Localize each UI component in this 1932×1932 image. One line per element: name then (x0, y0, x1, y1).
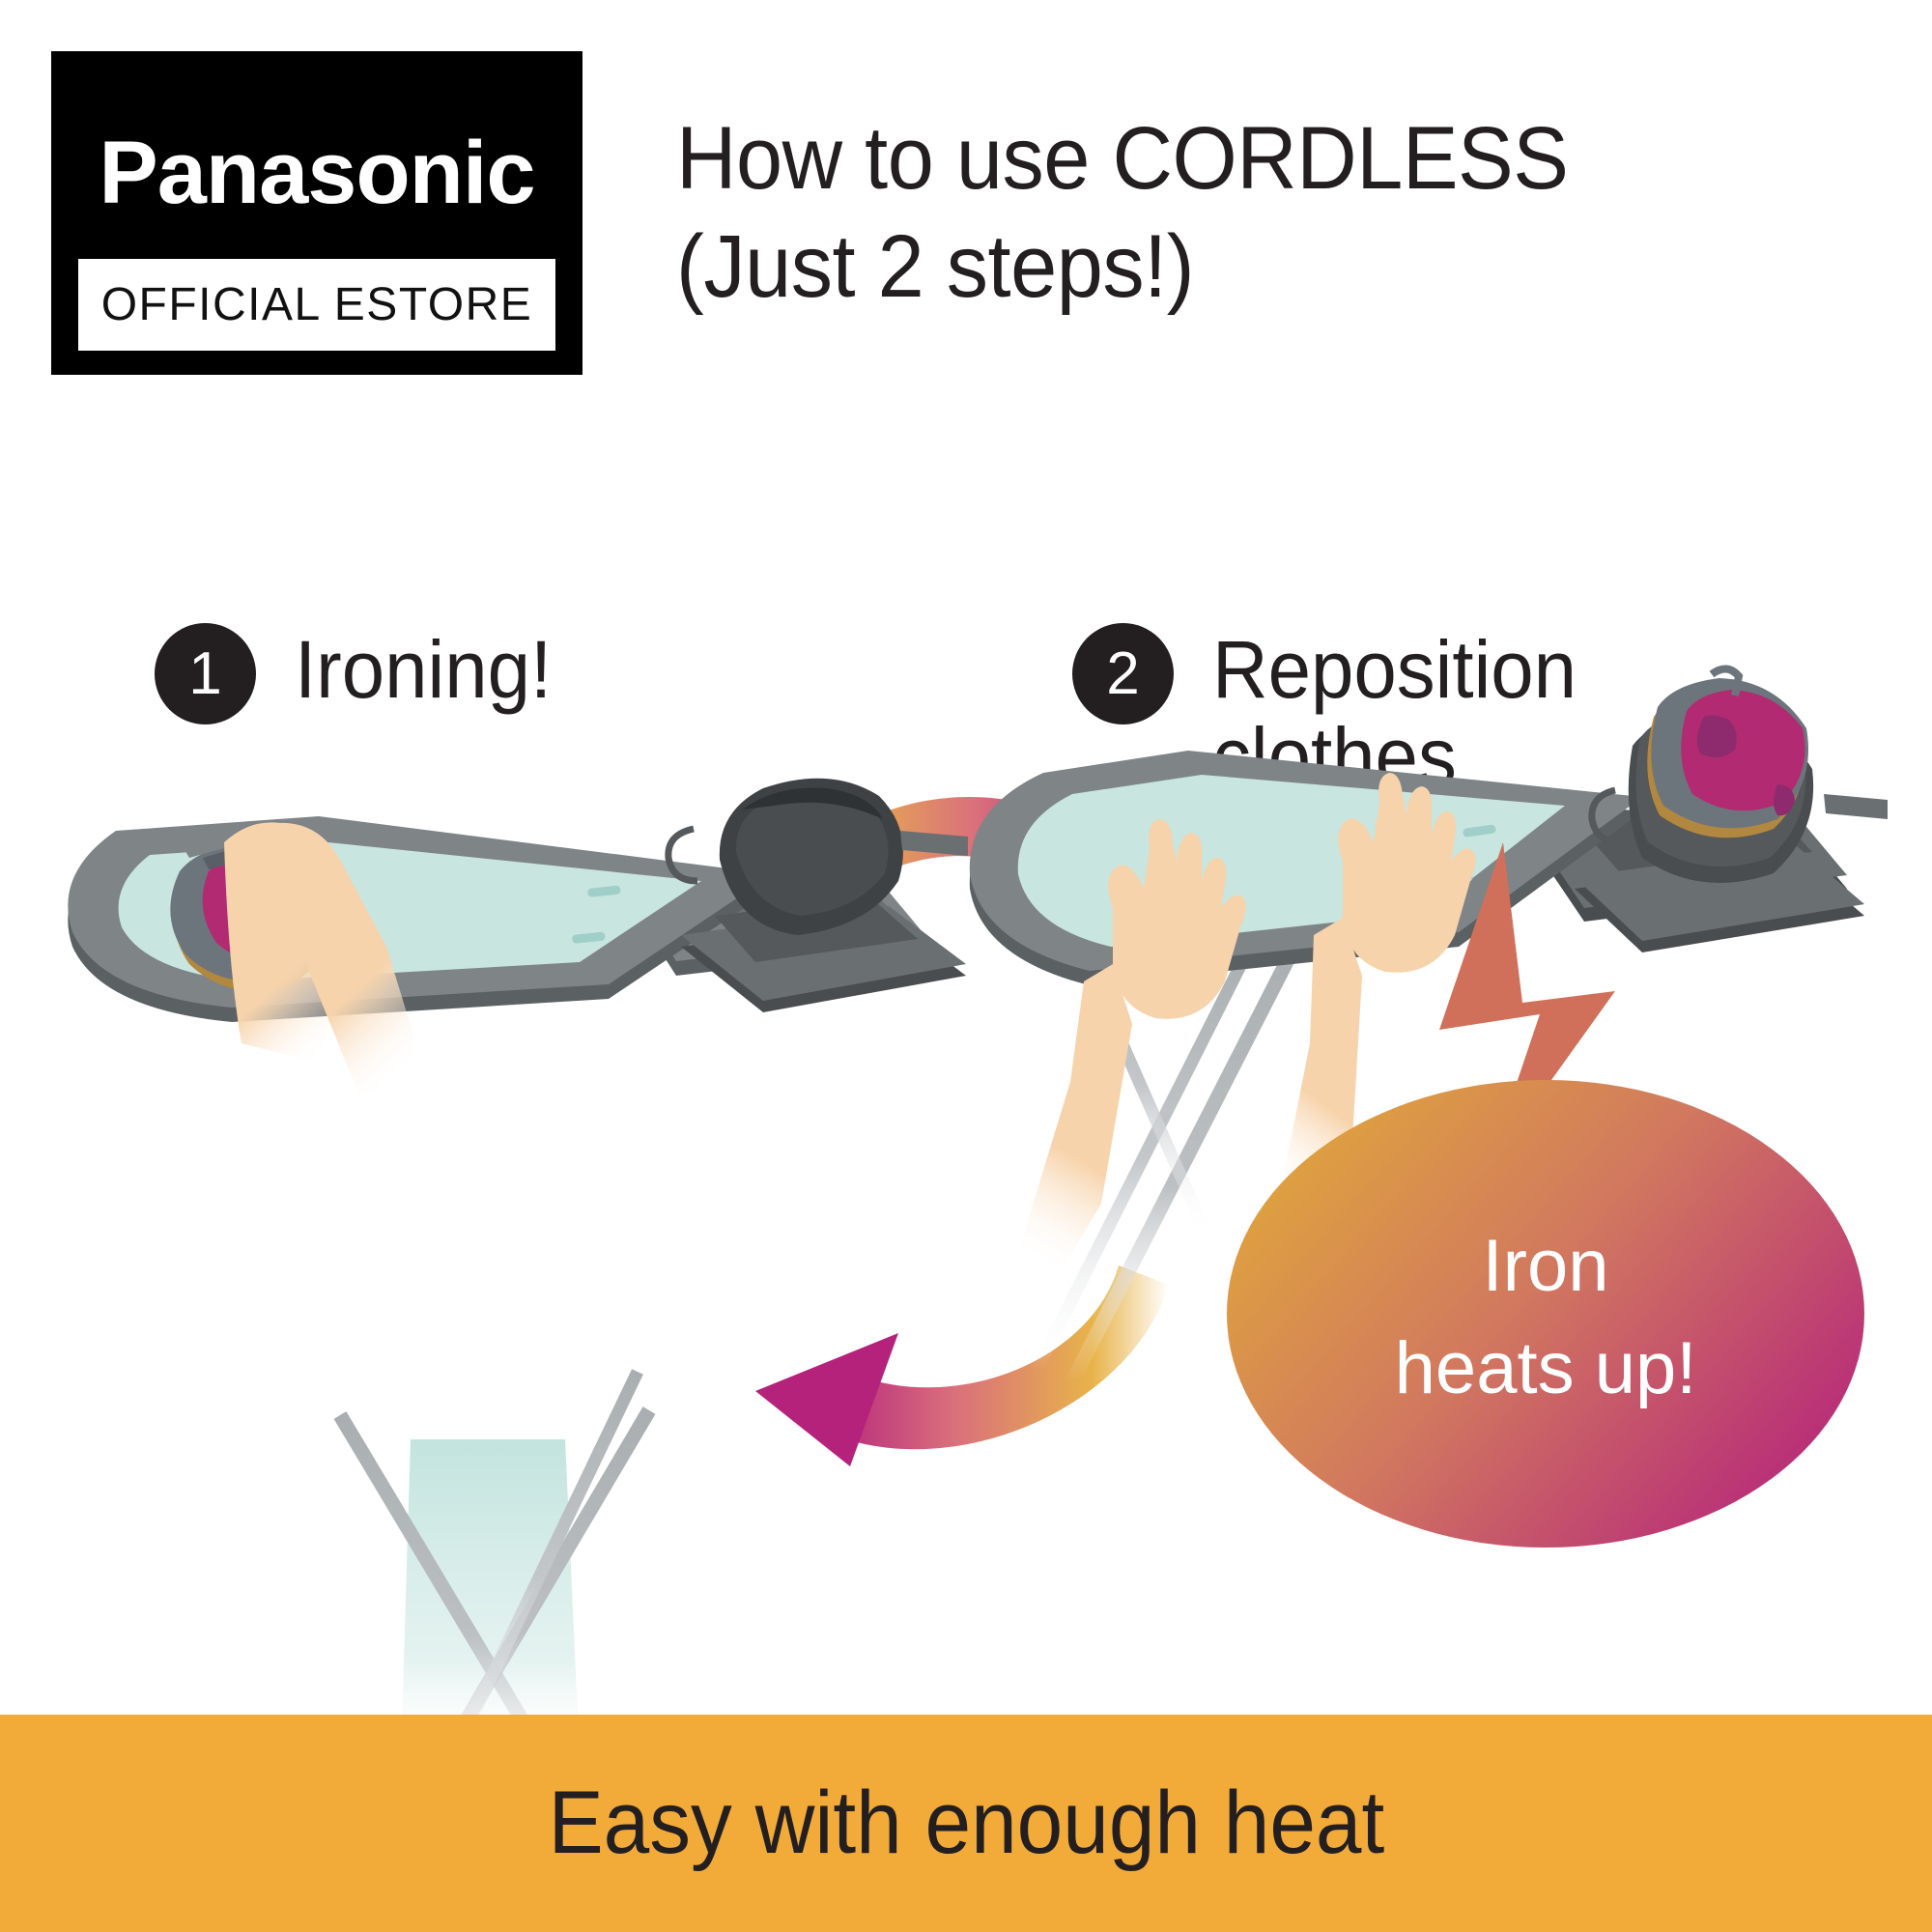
panasonic-logo: Panasonic OFFICIAL ESTORE (51, 51, 582, 375)
logo-wordmark: Panasonic (99, 128, 534, 217)
logo-subtitle-plate: OFFICIAL ESTORE (78, 259, 555, 351)
bottom-banner-text: Easy with enough heat (548, 1773, 1384, 1874)
page-title-line-1: How to use CORDLESS (676, 104, 1803, 213)
illustration: Iron heats up! (0, 406, 1932, 1719)
page-title: How to use CORDLESS (Just 2 steps!) (676, 104, 1803, 321)
ironing-board-right (970, 751, 1642, 985)
poster-canvas: Panasonic OFFICIAL ESTORE How to use COR… (0, 0, 1932, 1932)
callout-line-2: heats up! (1395, 1327, 1697, 1409)
callout-line-1: Iron (1483, 1225, 1609, 1307)
arrow-left-icon (755, 1265, 1169, 1466)
bottom-banner: Easy with enough heat (0, 1715, 1932, 1932)
heat-callout-bubble: Iron heats up! (1227, 1080, 1864, 1548)
logo-subtitle: OFFICIAL ESTORE (101, 278, 533, 331)
reposition-scene: Iron heats up! (970, 668, 1888, 1548)
page-title-line-2: (Just 2 steps!) (676, 213, 1803, 321)
ironing-scene (68, 779, 968, 1719)
